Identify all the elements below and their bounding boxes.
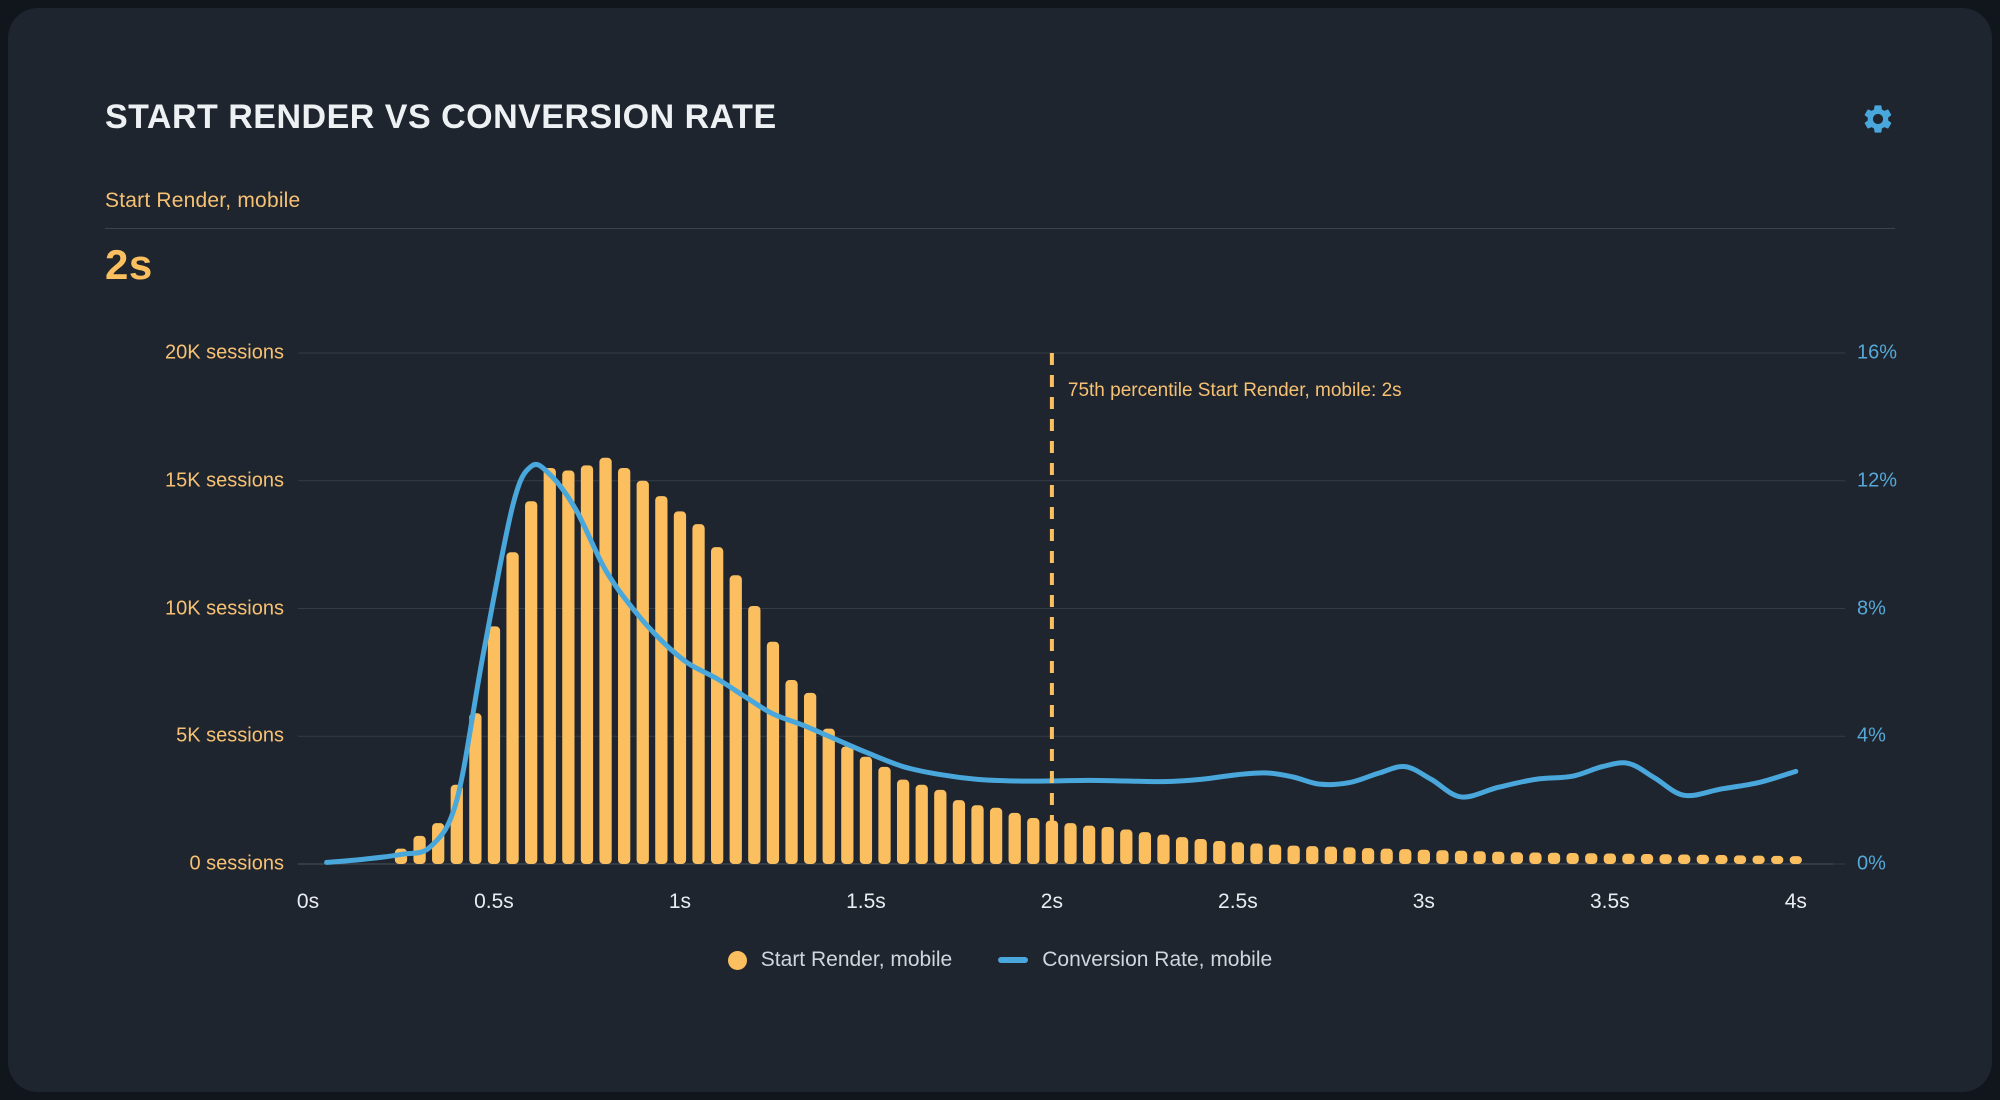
chart-card: Start Render vs Conversion Rate Start Re… xyxy=(8,8,1992,1092)
chart-bar[interactable] xyxy=(1659,854,1671,864)
chart-bar[interactable] xyxy=(1585,853,1597,864)
chart-bar[interactable] xyxy=(785,680,797,864)
chart-bar[interactable] xyxy=(1399,849,1411,864)
card-header: Start Render vs Conversion Rate xyxy=(105,100,1895,134)
chart-bar[interactable] xyxy=(1492,852,1504,864)
chart-bar[interactable] xyxy=(1009,813,1021,864)
chart-bar[interactable] xyxy=(1102,827,1114,864)
chart-bar[interactable] xyxy=(451,785,463,864)
y-axis-left-tick-label: 10K sessions xyxy=(68,597,284,620)
chart-bar[interactable] xyxy=(730,575,742,864)
chart-bar[interactable] xyxy=(1418,850,1430,864)
legend-line-icon xyxy=(998,957,1028,963)
chart-bar[interactable] xyxy=(1213,841,1225,864)
y-axis-right-tick-label: 8% xyxy=(1857,597,1886,620)
chart-bar[interactable] xyxy=(748,606,760,864)
x-axis-tick-label: 0.5s xyxy=(474,890,514,914)
chart-bar[interactable] xyxy=(1511,852,1523,864)
chart-bar[interactable] xyxy=(599,458,611,864)
chart-bar[interactable] xyxy=(1232,842,1244,864)
chart-bar[interactable] xyxy=(990,808,1002,864)
chart-svg xyxy=(8,8,1992,1092)
y-axis-right-tick-label: 16% xyxy=(1857,342,1897,365)
percentile-annotation-label: 75th percentile Start Render, mobile: 2s xyxy=(1068,380,1402,402)
chart-bar[interactable] xyxy=(1752,856,1764,864)
chart-bar[interactable] xyxy=(1529,853,1541,864)
metric-value: 2s xyxy=(105,241,153,289)
chart-bar[interactable] xyxy=(711,547,723,864)
chart-bar[interactable] xyxy=(1343,847,1355,864)
chart-bar[interactable] xyxy=(971,805,983,864)
chart-bar[interactable] xyxy=(860,757,872,864)
chart-bar[interactable] xyxy=(692,524,704,864)
chart-bar[interactable] xyxy=(1790,856,1802,864)
gear-icon[interactable] xyxy=(1861,102,1895,136)
chart-bar[interactable] xyxy=(1641,854,1653,864)
chart-legend: Start Render, mobile Conversion Rate, mo… xyxy=(8,948,1992,972)
metric-divider xyxy=(105,228,1895,229)
chart-bar[interactable] xyxy=(1288,846,1300,864)
x-axis-tick-label: 2s xyxy=(1041,890,1063,914)
chart-bar[interactable] xyxy=(953,800,965,864)
chart-bar[interactable] xyxy=(841,746,853,864)
chart-bar[interactable] xyxy=(1734,855,1746,864)
chart-bar[interactable] xyxy=(804,693,816,864)
line-series[interactable] xyxy=(327,464,1796,862)
chart-bar[interactable] xyxy=(1362,848,1374,864)
x-axis-tick-label: 1.5s xyxy=(846,890,886,914)
page-title: Start Render vs Conversion Rate xyxy=(105,100,1895,134)
chart-bar[interactable] xyxy=(1120,830,1132,864)
chart-bar[interactable] xyxy=(1697,855,1709,864)
x-axis-tick-label: 0s xyxy=(297,890,319,914)
chart-bar[interactable] xyxy=(655,496,667,864)
chart-bar[interactable] xyxy=(767,642,779,864)
chart-bar[interactable] xyxy=(1436,850,1448,864)
chart-bar[interactable] xyxy=(674,511,686,864)
chart-bar[interactable] xyxy=(1381,849,1393,864)
chart-bar[interactable] xyxy=(1195,839,1207,864)
y-axis-left-tick-label: 0 sessions xyxy=(68,853,284,876)
chart-bar[interactable] xyxy=(1474,851,1486,864)
chart-bar[interactable] xyxy=(1083,826,1095,864)
chart-bar[interactable] xyxy=(1771,856,1783,864)
chart-bar[interactable] xyxy=(506,552,518,864)
y-axis-left-tick-label: 5K sessions xyxy=(68,725,284,748)
chart-bar[interactable] xyxy=(1250,844,1262,864)
chart-bar[interactable] xyxy=(1604,854,1616,864)
chart-bar[interactable] xyxy=(1027,818,1039,864)
x-axis-tick-label: 4s xyxy=(1785,890,1807,914)
y-axis-left-tick-label: 20K sessions xyxy=(68,342,284,365)
x-axis-tick-label: 1s xyxy=(669,890,691,914)
gear-icon-svg xyxy=(1861,102,1895,136)
plot-area: 75th percentile Start Render, mobile: 2s… xyxy=(8,8,1992,1092)
x-axis-tick-label: 2.5s xyxy=(1218,890,1258,914)
chart-bar[interactable] xyxy=(413,836,425,864)
chart-bar[interactable] xyxy=(823,729,835,864)
chart-bar[interactable] xyxy=(934,790,946,864)
y-axis-left-tick-label: 15K sessions xyxy=(68,469,284,492)
chart-bar[interactable] xyxy=(1715,855,1727,864)
y-axis-right-tick-label: 12% xyxy=(1857,469,1897,492)
chart-bar[interactable] xyxy=(395,849,407,864)
chart-bar[interactable] xyxy=(1046,821,1058,864)
chart-bar[interactable] xyxy=(1325,847,1337,864)
chart-bar[interactable] xyxy=(1455,851,1467,864)
bar-series xyxy=(395,458,1802,864)
chart-bar[interactable] xyxy=(581,465,593,864)
chart-bar[interactable] xyxy=(878,767,890,864)
chart-bar[interactable] xyxy=(562,471,574,864)
legend-label: Start Render, mobile xyxy=(761,948,952,972)
x-axis-tick-label: 3s xyxy=(1413,890,1435,914)
x-axis-tick-label: 3.5s xyxy=(1590,890,1630,914)
chart-bar[interactable] xyxy=(1566,853,1578,864)
legend-dot-icon xyxy=(728,951,747,970)
chart-bar[interactable] xyxy=(488,626,500,864)
metric-label: Start Render, mobile xyxy=(105,189,300,213)
chart-bar[interactable] xyxy=(637,481,649,864)
legend-item-start-render[interactable]: Start Render, mobile xyxy=(728,948,952,972)
chart-bar[interactable] xyxy=(1622,854,1634,864)
screenshot-root: Start Render vs Conversion Rate Start Re… xyxy=(0,0,2000,1100)
y-axis-right-tick-label: 0% xyxy=(1857,853,1886,876)
legend-item-conversion-rate[interactable]: Conversion Rate, mobile xyxy=(998,948,1272,972)
chart-bar[interactable] xyxy=(432,823,444,864)
chart-bar[interactable] xyxy=(897,780,909,864)
chart-bar[interactable] xyxy=(1176,837,1188,864)
chart-bar[interactable] xyxy=(469,713,481,864)
chart-bar[interactable] xyxy=(1139,832,1151,864)
chart-bar[interactable] xyxy=(916,785,928,864)
chart-bar[interactable] xyxy=(1157,835,1169,864)
chart-bar[interactable] xyxy=(1306,846,1318,864)
y-axis-right-tick-label: 4% xyxy=(1857,725,1886,748)
chart-bar[interactable] xyxy=(1678,855,1690,864)
legend-label: Conversion Rate, mobile xyxy=(1042,948,1272,972)
chart-bar[interactable] xyxy=(1269,845,1281,864)
chart-bar[interactable] xyxy=(618,468,630,864)
chart-bar[interactable] xyxy=(544,468,556,864)
chart-bar[interactable] xyxy=(1548,853,1560,864)
chart-bar[interactable] xyxy=(1064,823,1076,864)
chart-bar[interactable] xyxy=(525,501,537,864)
